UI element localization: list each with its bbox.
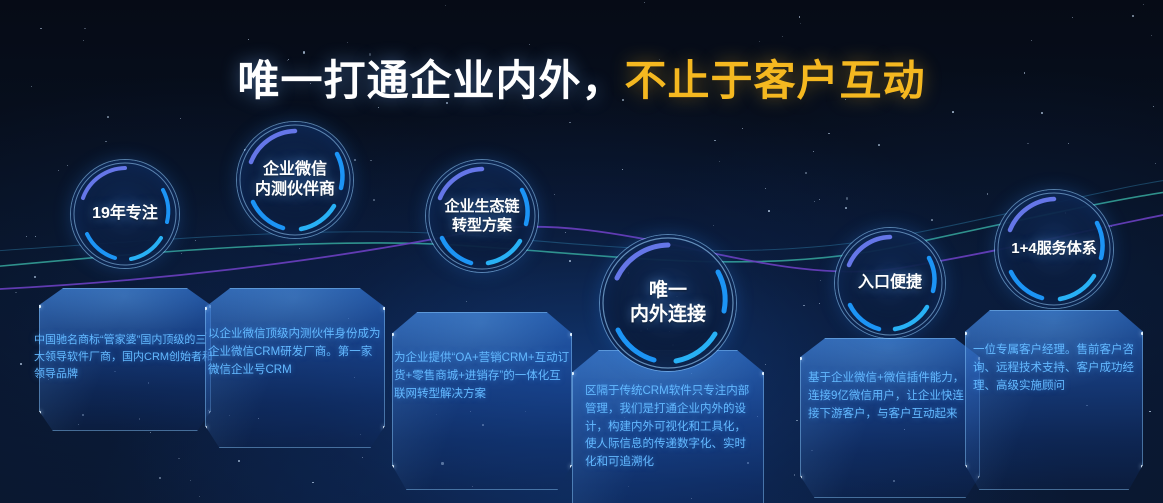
node-circle[interactable]: 唯一 内外连接 — [600, 235, 736, 371]
node-service-system[interactable]: 一位专属客户经理。售前客户咨询、远程技术支持、客户成功经理、高级实施顾问 1+4… — [945, 190, 1163, 503]
node-description: 一位专属客户经理。售前客户咨询、远程技术支持、客户成功经理、高级实施顾问 — [945, 342, 1163, 395]
node-description: 区隔于传统CRM软件只专注内部管理，我们是打通企业内外的设计，构建内外可视化和工… — [548, 383, 788, 472]
pedestal-outline — [965, 310, 1143, 490]
pedestal-corner-dot — [1141, 332, 1144, 335]
pedestal-corner-dot — [204, 426, 207, 429]
pedestal-corner-dot — [38, 411, 41, 414]
node-label: 1+4服务体系 — [1011, 239, 1096, 258]
pedestal-corner-dot — [1141, 465, 1144, 468]
node-label: 唯一 内外连接 — [630, 279, 706, 328]
title-accent: 不止于客户互动 — [625, 57, 926, 104]
pedestal-corner-dot — [391, 465, 394, 468]
node-circle[interactable]: 1+4服务体系 — [995, 190, 1113, 308]
pedestal-corner-dot — [799, 357, 802, 360]
node-circle[interactable]: 入口便捷 — [835, 228, 945, 338]
node-label: 入口便捷 — [858, 273, 922, 293]
pedestal-corner-dot — [799, 476, 802, 479]
node-circle[interactable]: 企业生态链 转型方案 — [426, 160, 538, 272]
pedestal-corner-dot — [964, 465, 967, 468]
node-label: 企业微信 内测伙伴商 — [255, 160, 335, 201]
node-label: 企业生态链 转型方案 — [444, 197, 519, 235]
pedestal-corner-dot — [964, 332, 967, 335]
title-primary: 唯一打通企业内外， — [237, 57, 624, 104]
pedestal-corner-dot — [204, 307, 207, 310]
node-circle[interactable]: 企业微信 内测伙伴商 — [237, 122, 353, 238]
node-unique-connect[interactable]: 区隔于传统CRM软件只专注内部管理，我们是打通企业内外的设计，构建内外可视化和工… — [548, 235, 788, 503]
pedestal-corner-dot — [762, 372, 765, 375]
node-label: 19年专注 — [92, 204, 158, 224]
pedestal-corner-dot — [38, 305, 41, 308]
pedestal — [965, 310, 1143, 490]
page-title: 唯一打通企业内外，不止于客户互动 — [0, 60, 1163, 102]
node-circle[interactable]: 19年专注 — [71, 160, 179, 268]
